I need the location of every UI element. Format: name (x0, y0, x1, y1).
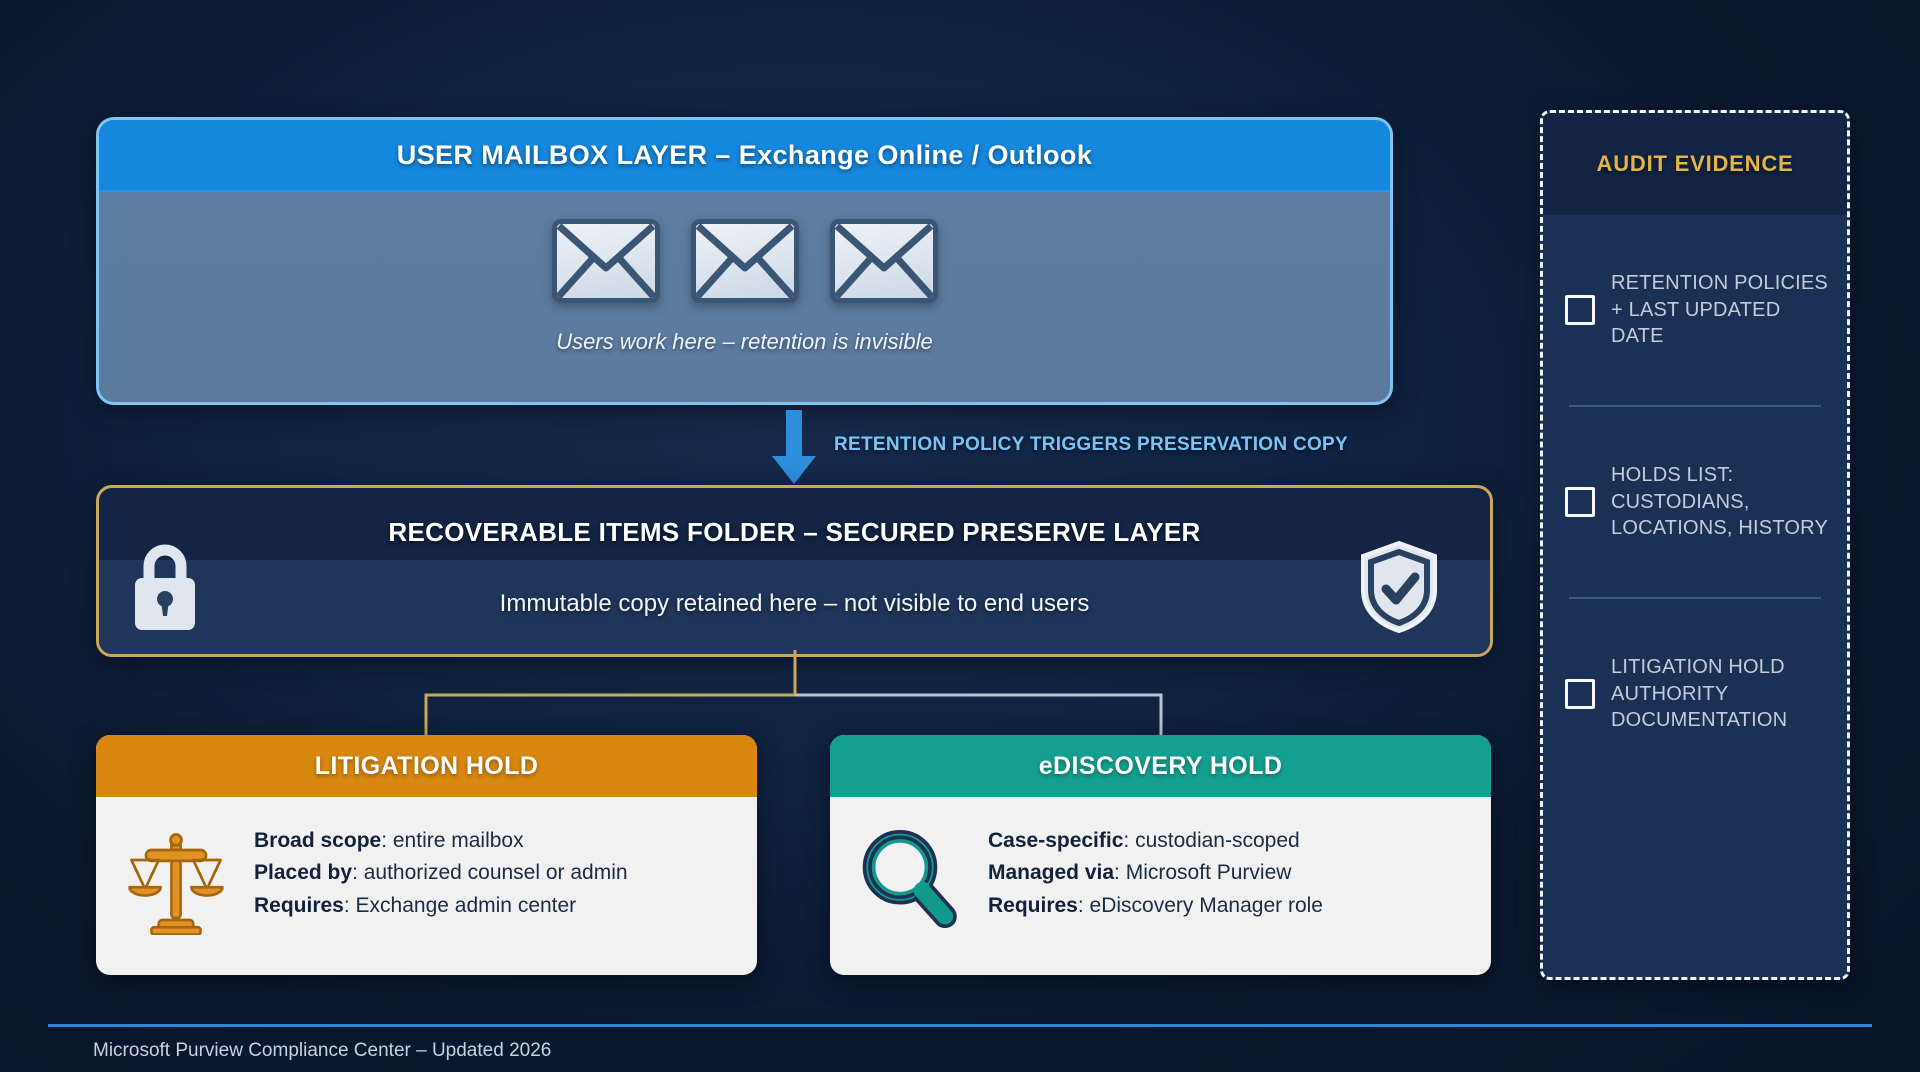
audit-evidence-title: AUDIT EVIDENCE (1597, 151, 1794, 177)
litigation-hold-header: LITIGATION HOLD (96, 735, 757, 797)
user-mailbox-title: USER MAILBOX LAYER – Exchange Online / O… (397, 140, 1093, 171)
hold-line-value: Exchange admin center (356, 894, 577, 917)
audit-evidence-list: RETENTION POLICIES + LAST UPDATED DATE H… (1543, 215, 1847, 789)
envelope-row (552, 219, 938, 303)
ediscovery-hold-header: eDISCOVERY HOLD (830, 735, 1491, 797)
audit-evidence-header: AUDIT EVIDENCE (1543, 113, 1847, 215)
hold-line: Placed by: authorized counsel or admin (254, 857, 628, 889)
user-mailbox-caption: Users work here – retention is invisible (556, 329, 933, 355)
hold-line-sep: : (344, 894, 356, 917)
magnifying-glass-icon (856, 821, 964, 935)
hold-line: Broad scope: entire mailbox (254, 825, 628, 857)
hold-line-label: Placed by (254, 861, 352, 884)
hold-line-value: entire mailbox (393, 829, 524, 852)
hold-line-label: Broad scope (254, 829, 381, 852)
user-mailbox-header: USER MAILBOX LAYER – Exchange Online / O… (99, 120, 1390, 192)
flow-label: RETENTION POLICY TRIGGERS PRESERVATION C… (834, 434, 1348, 456)
checkbox-icon[interactable] (1565, 679, 1595, 709)
hold-line-label: Requires (254, 894, 344, 917)
envelope-icon (830, 219, 938, 303)
checkbox-icon[interactable] (1565, 487, 1595, 517)
audit-evidence-item[interactable]: HOLDS LIST: CUSTODIANS, LOCATIONS, HISTO… (1543, 407, 1847, 597)
ediscovery-hold-card[interactable]: eDISCOVERY HOLD Case-specific: custo (830, 735, 1491, 975)
hold-line: Requires: eDiscovery Manager role (988, 890, 1323, 922)
hold-line-sep: : (1114, 861, 1126, 884)
audit-evidence-item[interactable]: LITIGATION HOLD AUTHORITY DOCUMENTATION (1543, 599, 1847, 789)
audit-evidence-item-label: LITIGATION HOLD AUTHORITY DOCUMENTATION (1611, 654, 1829, 733)
scales-of-justice-icon (122, 821, 230, 935)
audit-evidence-item-label: HOLDS LIST: CUSTODIANS, LOCATIONS, HISTO… (1611, 462, 1829, 541)
user-mailbox-layer-card: USER MAILBOX LAYER – Exchange Online / O… (96, 117, 1393, 405)
hold-line-sep: : (1123, 829, 1135, 852)
hold-line-sep: : (1078, 894, 1090, 917)
audit-evidence-panel: AUDIT EVIDENCE RETENTION POLICIES + LAST… (1540, 110, 1850, 980)
hold-line-value: authorized counsel or admin (364, 861, 628, 884)
audit-evidence-item[interactable]: RETENTION POLICIES + LAST UPDATED DATE (1543, 215, 1847, 405)
hold-line-value: custodian-scoped (1135, 829, 1300, 852)
footer-caption: Microsoft Purview Compliance Center – Up… (93, 1040, 551, 1062)
hold-line: Managed via: Microsoft Purview (988, 857, 1323, 889)
envelope-icon (552, 219, 660, 303)
hold-line-value: eDiscovery Manager role (1090, 894, 1323, 917)
recoverable-items-title: RECOVERABLE ITEMS FOLDER – SECURED PRESE… (99, 517, 1490, 548)
hold-line: Case-specific: custodian-scoped (988, 825, 1323, 857)
audit-evidence-item-label: RETENTION POLICIES + LAST UPDATED DATE (1611, 270, 1829, 349)
hold-line-sep: : (352, 861, 364, 884)
ediscovery-hold-body: Case-specific: custodian-scoped Managed … (830, 797, 1491, 935)
litigation-hold-lines: Broad scope: entire mailbox Placed by: a… (254, 821, 628, 922)
litigation-hold-card[interactable]: LITIGATION HOLD (96, 735, 757, 975)
hold-line: Requires: Exchange admin center (254, 890, 628, 922)
shield-check-icon (1358, 540, 1440, 634)
recoverable-items-subtitle: Immutable copy retained here – not visib… (99, 590, 1490, 618)
ediscovery-hold-lines: Case-specific: custodian-scoped Managed … (988, 821, 1323, 922)
hold-line-value: Microsoft Purview (1126, 861, 1292, 884)
hold-line-label: Managed via (988, 861, 1114, 884)
user-mailbox-body: Users work here – retention is invisible (99, 192, 1390, 402)
checkbox-icon[interactable] (1565, 295, 1595, 325)
hold-line-sep: : (381, 829, 393, 852)
envelope-icon (691, 219, 799, 303)
recoverable-items-folder-card: RECOVERABLE ITEMS FOLDER – SECURED PRESE… (96, 485, 1493, 657)
diagram-canvas: USER MAILBOX LAYER – Exchange Online / O… (0, 0, 1920, 1072)
down-arrow-icon (770, 410, 818, 486)
lock-icon (128, 540, 202, 634)
hold-line-label: Case-specific (988, 829, 1123, 852)
litigation-hold-body: Broad scope: entire mailbox Placed by: a… (96, 797, 757, 935)
hold-line-label: Requires (988, 894, 1078, 917)
footer-rule (48, 1024, 1872, 1027)
